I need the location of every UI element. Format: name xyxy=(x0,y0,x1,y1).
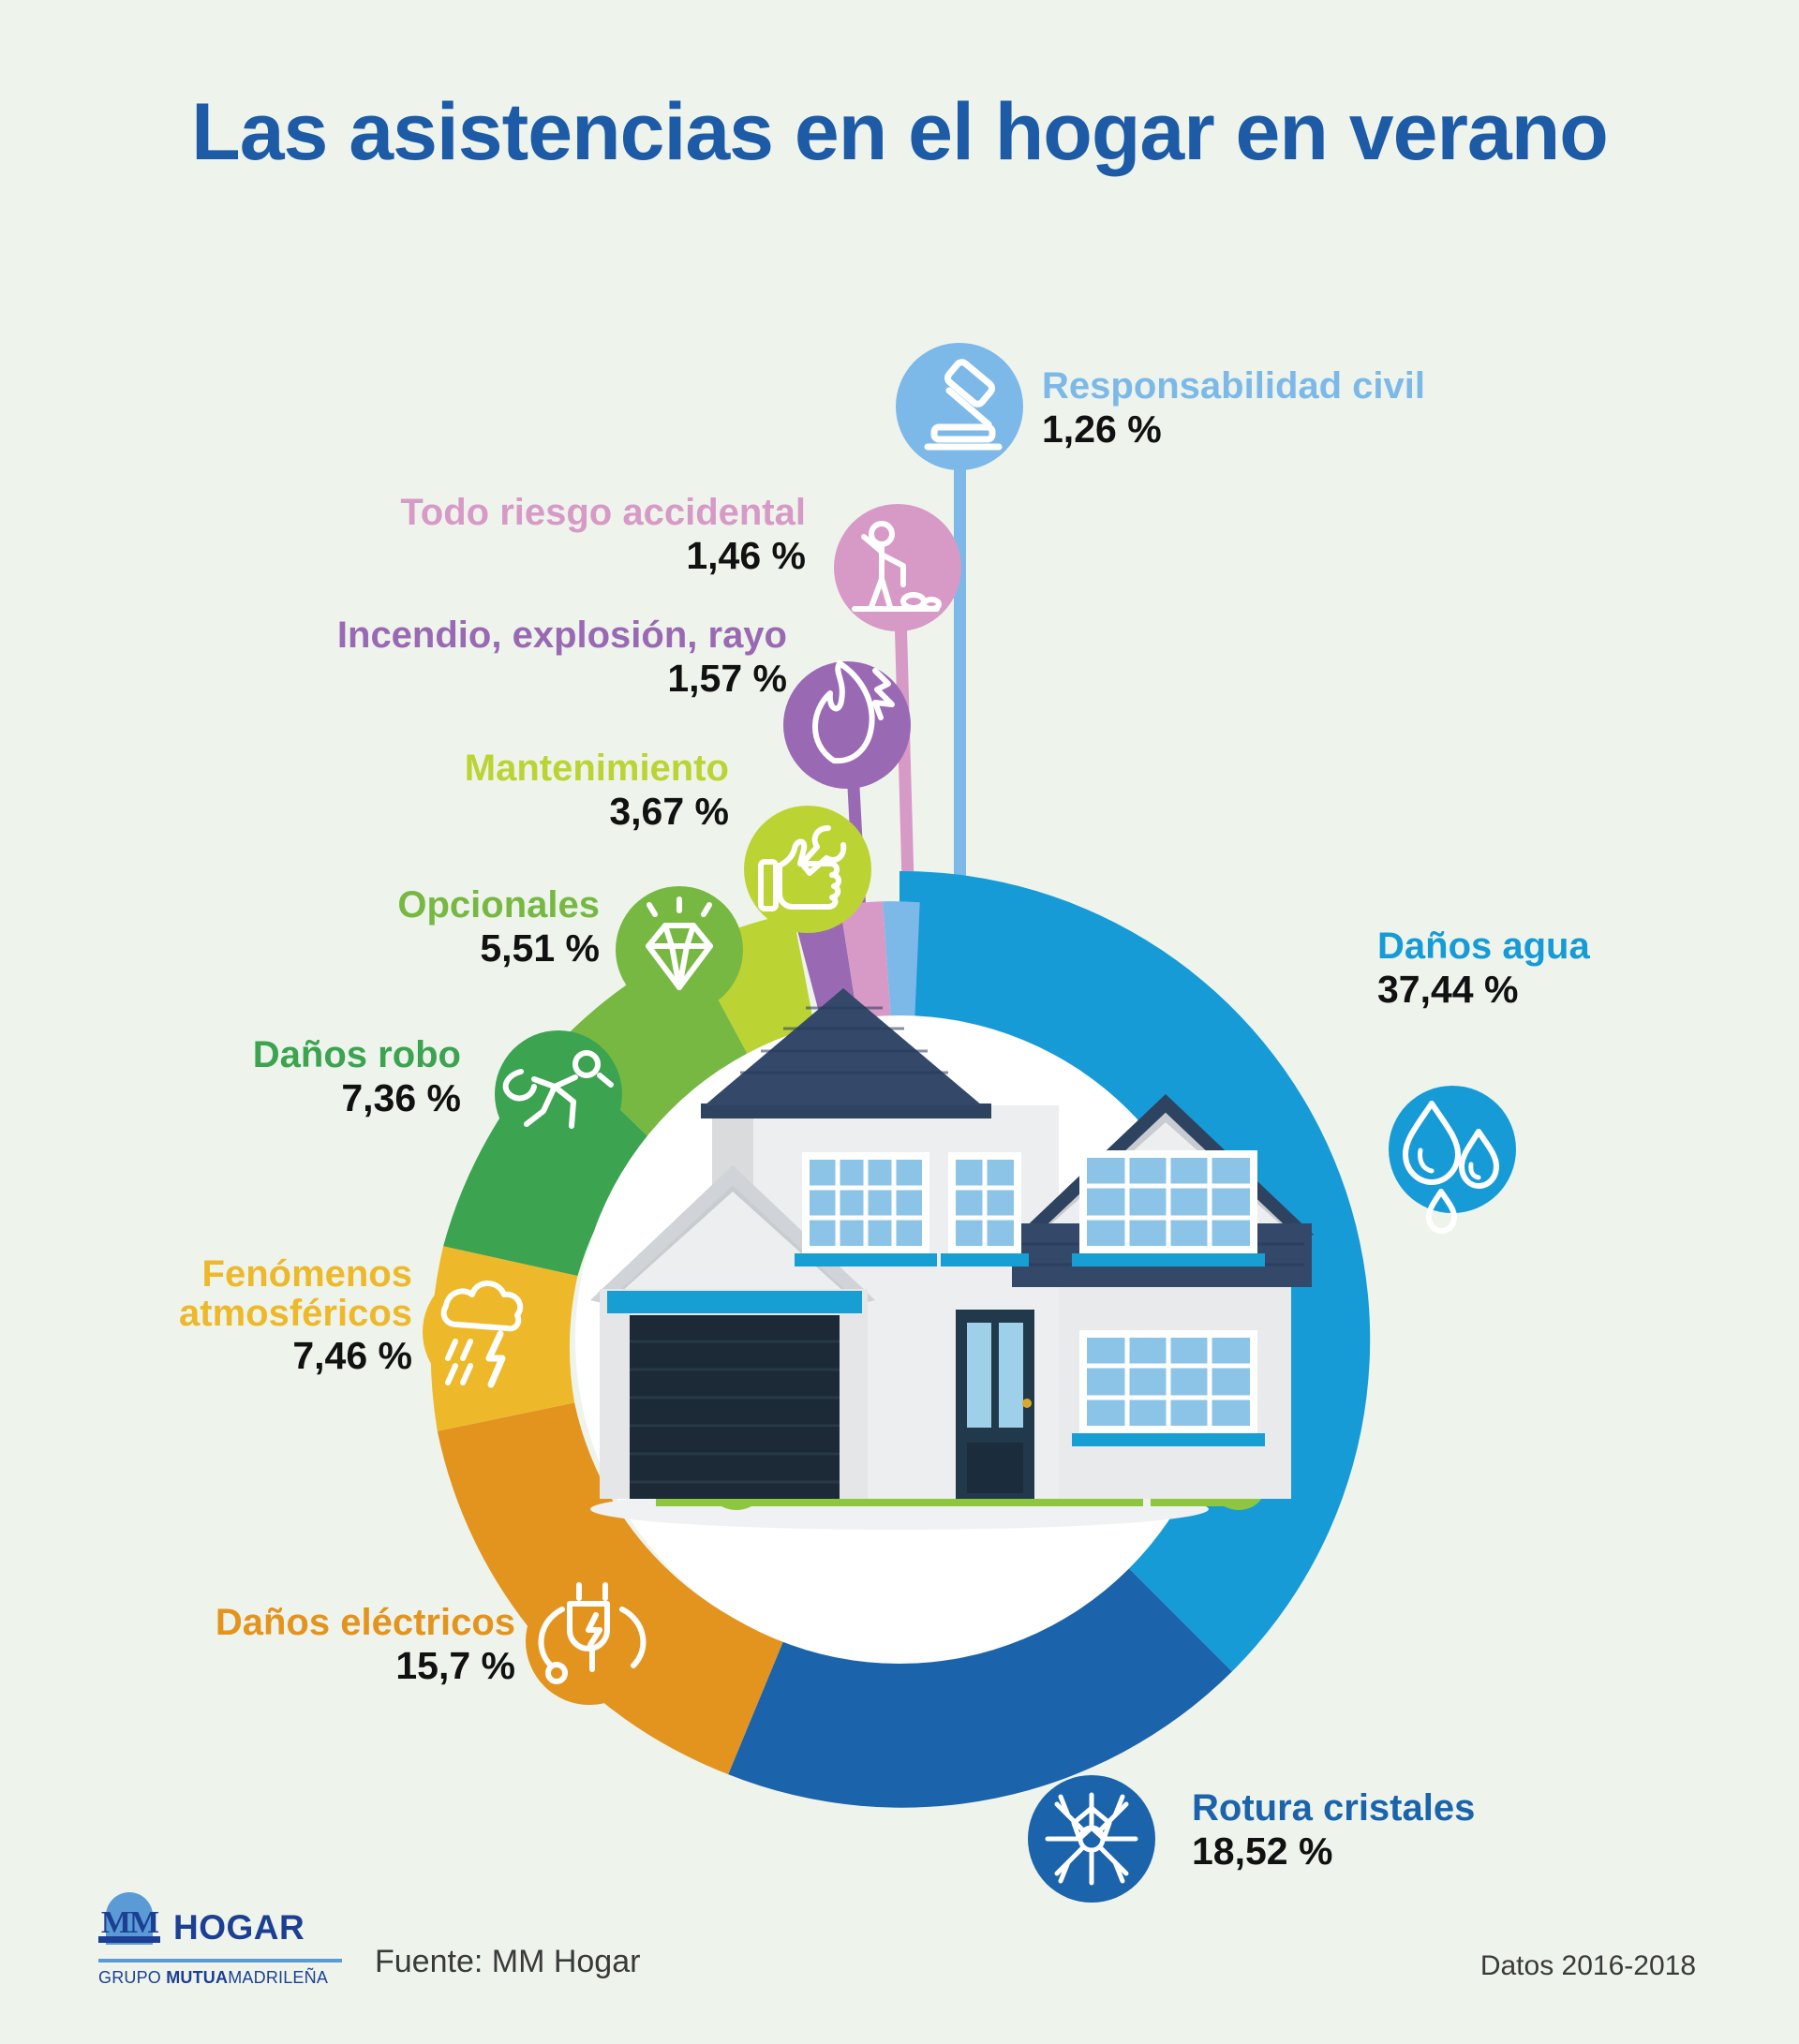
label-danos-agua-pct: 37,44 % xyxy=(1377,967,1780,1012)
label-todo-riesgo: Todo riesgo accidental 1,46 % xyxy=(169,494,806,578)
label-responsabilidad: Responsabilidad civil 1,26 % xyxy=(1042,367,1604,452)
label-responsabilidad-pct: 1,26 % xyxy=(1042,407,1604,452)
label-opcionales-pct: 5,51 % xyxy=(150,926,600,970)
logo-divider xyxy=(98,1959,342,1963)
source-text: Fuente: MM Hogar xyxy=(375,1944,640,1980)
logo-group-bold: MUTUA xyxy=(166,1968,228,1987)
label-incendio-pct: 1,57 % xyxy=(112,656,787,701)
icon-bubble-fenomenos[interactable] xyxy=(423,1268,550,1396)
label-todo-riesgo-name: Todo riesgo accidental xyxy=(169,494,806,533)
mm-hogar-logo: MM HOGAR GRUPO MUTUAMADRILEÑA xyxy=(98,1892,342,1988)
bubble-circle-todo-riesgo xyxy=(834,504,961,631)
icon-bubble-danos-robo[interactable] xyxy=(495,1030,622,1158)
label-incendio: Incendio, explosión, rayo 1,57 % xyxy=(112,616,787,701)
house-garage-lintel xyxy=(607,1291,862,1313)
label-rotura-cristales-name: Rotura cristales xyxy=(1192,1789,1717,1829)
logo-base-bar xyxy=(98,1936,160,1943)
label-responsabilidad-name: Responsabilidad civil xyxy=(1042,367,1604,407)
label-opcionales: Opcionales 5,51 % xyxy=(150,886,600,970)
logo-hogar-text: HOGAR xyxy=(173,1908,305,1954)
logo-group-light: MADRILEÑA xyxy=(228,1968,328,1987)
label-danos-robo: Daños robo 7,36 % xyxy=(56,1036,461,1120)
label-danos-electricos-pct: 15,7 % xyxy=(19,1643,515,1688)
label-incendio-name: Incendio, explosión, rayo xyxy=(112,616,787,656)
label-danos-robo-name: Daños robo xyxy=(56,1036,461,1075)
mm-logo-mark: MM xyxy=(98,1892,160,1954)
icon-bubble-danos-electricos[interactable] xyxy=(526,1577,653,1705)
label-mantenimiento-name: Mantenimiento xyxy=(187,749,729,789)
label-todo-riesgo-pct: 1,46 % xyxy=(169,533,806,578)
logo-group-prefix: GRUPO xyxy=(98,1968,166,1987)
label-danos-agua-name: Daños agua xyxy=(1377,927,1780,967)
icon-bubble-todo-riesgo[interactable] xyxy=(834,504,961,631)
icon-bubble-responsabilidad[interactable] xyxy=(896,343,1023,470)
period-text: Datos 2016-2018 xyxy=(1480,1950,1696,1982)
logo-group-text: GRUPO MUTUAMADRILEÑA xyxy=(98,1968,342,1988)
connector-responsabilidad xyxy=(954,412,966,918)
icon-bubble-incendio[interactable] xyxy=(783,661,911,789)
label-mantenimiento: Mantenimiento 3,67 % xyxy=(187,749,729,834)
label-mantenimiento-pct: 3,67 % xyxy=(187,789,729,834)
label-danos-robo-pct: 7,36 % xyxy=(56,1075,461,1120)
bubble-circle-incendio xyxy=(783,661,911,789)
label-fenomenos: Fenómenos atmosféricos 7,46 % xyxy=(19,1255,412,1379)
label-fenomenos-pct: 7,46 % xyxy=(19,1333,412,1378)
icon-bubble-danos-agua[interactable] xyxy=(1389,1086,1516,1231)
label-danos-electricos: Daños eléctricos 15,7 % xyxy=(19,1604,515,1688)
label-fenomenos-name: Fenómenos atmosféricos xyxy=(19,1255,412,1333)
footer: MM HOGAR GRUPO MUTUAMADRILEÑA Fuente: MM… xyxy=(0,1857,1799,2044)
label-danos-agua: Daños agua 37,44 % xyxy=(1377,927,1780,1012)
label-danos-electricos-name: Daños eléctricos xyxy=(19,1604,515,1643)
label-opcionales-name: Opcionales xyxy=(150,886,600,926)
bubble-circle-fenomenos xyxy=(423,1268,550,1396)
donut-chart-svg xyxy=(0,0,1799,2044)
icon-bubble-opcionales[interactable] xyxy=(616,886,743,1014)
donut-chart: Responsabilidad civil 1,26 % Todo riesgo… xyxy=(0,0,1799,2044)
icon-bubble-mantenimiento[interactable] xyxy=(744,806,871,933)
